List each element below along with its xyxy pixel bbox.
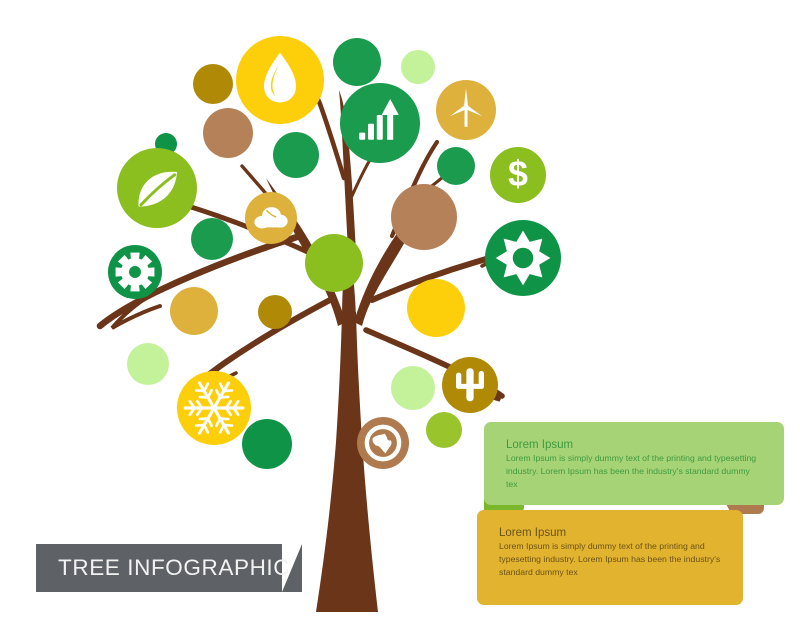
leaf-circle-amber-1 [170, 287, 218, 335]
sun-icon-node[interactable] [485, 220, 561, 296]
leaf-circle-tan-2 [391, 184, 457, 250]
svg-text:$: $ [508, 154, 528, 194]
leaf-circle-green-5 [191, 218, 233, 260]
leaf-circle-green-4 [437, 147, 475, 185]
leaf-circle-olive-1 [305, 234, 363, 292]
leaf-circle-pale-1 [401, 50, 435, 84]
leaf-circle-yellow-1 [407, 279, 465, 337]
title-banner: TREE INFOGRAPHIC [36, 544, 282, 592]
leaf-circle-pale-3 [391, 366, 435, 410]
dollar-sign-icon: $ [508, 154, 528, 194]
leaf-icon-node[interactable] [117, 148, 197, 228]
tree-nodes: $ [108, 36, 561, 469]
globe-icon-node[interactable] [357, 417, 409, 469]
callout-green[interactable]: Lorem Ipsum Lorem Ipsum is simply dummy … [484, 422, 784, 505]
leaf-circle-tan-1 [203, 108, 253, 158]
callout-green-body: Lorem Ipsum is simply dummy text of the … [506, 452, 762, 490]
infographic-canvas: $ TREE INFOGRAPHIC Lorem Ipsum Lorem Ips… [0, 0, 800, 623]
callout-gold[interactable]: Lorem Ipsum Lorem Ipsum is simply dummy … [477, 510, 743, 605]
leaf-circle-green-3 [273, 132, 319, 178]
callout-green-title: Lorem Ipsum [506, 439, 762, 451]
callout-gold-title: Lorem Ipsum [499, 527, 721, 539]
cloud-icon-node[interactable] [245, 192, 297, 244]
leaf-circle-green-6 [242, 419, 292, 469]
snowflake-icon-node[interactable] [177, 371, 251, 445]
cactus-icon-node[interactable] [442, 357, 498, 413]
water-drop-icon-node[interactable] [236, 36, 324, 124]
leaf-circle-lime-1 [426, 412, 462, 448]
leaf-circle-pale-2 [127, 343, 169, 385]
growth-chart-icon-node[interactable] [340, 83, 420, 163]
wind-turbine-icon-node[interactable] [436, 80, 496, 140]
leaf-circle-dark-gold-1 [193, 64, 233, 104]
leaf-circle-green-2 [333, 38, 381, 86]
gear-icon-node[interactable] [108, 245, 162, 299]
gear-icon [116, 253, 155, 292]
callout-gold-body: Lorem Ipsum is simply dummy text of the … [499, 540, 721, 578]
page-title: TREE INFOGRAPHIC [58, 544, 290, 592]
sun-icon [496, 231, 551, 286]
dollar-sign-icon-node[interactable]: $ [490, 147, 546, 203]
leaf-circle-dark-gold-2 [258, 295, 292, 329]
